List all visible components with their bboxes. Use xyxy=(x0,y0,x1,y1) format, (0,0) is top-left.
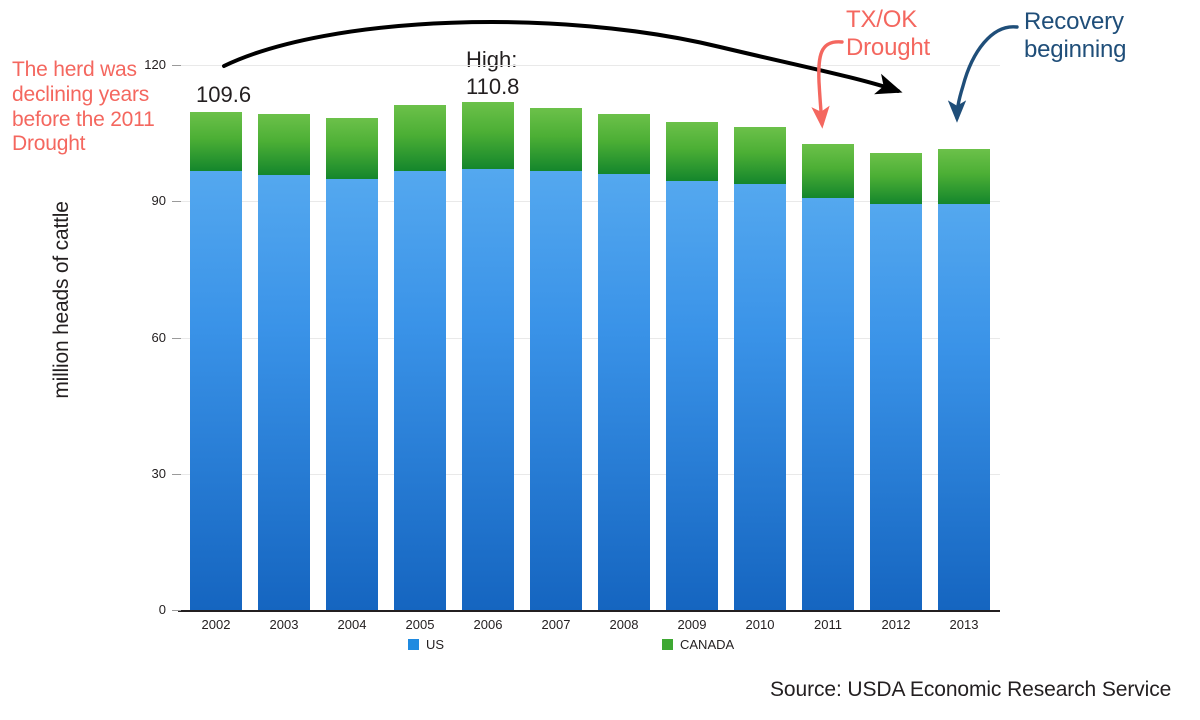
legend-swatch-us-icon xyxy=(408,639,419,650)
y-axis-tick xyxy=(172,610,181,611)
bar-segment-us[interactable] xyxy=(326,179,378,610)
x-axis-label: 2003 xyxy=(258,617,310,632)
bar-segment-us[interactable] xyxy=(530,171,582,610)
bar-segment-us[interactable] xyxy=(666,181,718,610)
bar-segment-us[interactable] xyxy=(190,171,242,610)
bar-segment-canada[interactable] xyxy=(666,122,718,181)
y-axis-label: 30 xyxy=(106,466,166,481)
bar-segment-canada[interactable] xyxy=(598,114,650,174)
x-axis-label: 2012 xyxy=(870,617,922,632)
x-axis-label: 2011 xyxy=(802,617,854,632)
legend-swatch-canada-icon xyxy=(662,639,673,650)
bar-segment-us[interactable] xyxy=(938,204,990,610)
legend-item-us: US xyxy=(408,637,444,652)
bar-segment-canada[interactable] xyxy=(870,153,922,205)
x-axis-label: 2009 xyxy=(666,617,718,632)
annotation-recovery-beginning: Recovery beginning xyxy=(1024,8,1189,65)
bar-segment-us[interactable] xyxy=(258,175,310,610)
bar-value-label-2002: 109.6 xyxy=(196,82,251,108)
bar-segment-us[interactable] xyxy=(734,184,786,610)
y-axis-tick xyxy=(172,65,181,66)
gridline xyxy=(180,65,1000,66)
source-note: Source: USDA Economic Research Service xyxy=(770,678,1171,702)
bar-segment-canada[interactable] xyxy=(258,114,310,175)
legend-label-canada: CANADA xyxy=(680,637,734,652)
bar-segment-canada[interactable] xyxy=(734,127,786,184)
y-axis-label: 0 xyxy=(106,602,166,617)
bar-segment-canada[interactable] xyxy=(394,105,446,170)
bar-segment-us[interactable] xyxy=(462,169,514,610)
y-axis-label: 60 xyxy=(106,330,166,345)
x-axis-label: 2002 xyxy=(190,617,242,632)
x-axis-label: 2007 xyxy=(530,617,582,632)
bar-segment-canada[interactable] xyxy=(530,108,582,171)
x-axis-label: 2006 xyxy=(462,617,514,632)
bar-segment-canada[interactable] xyxy=(938,149,990,204)
legend-item-canada: CANADA xyxy=(662,637,734,652)
bar-segment-us[interactable] xyxy=(870,204,922,610)
x-axis-label: 2004 xyxy=(326,617,378,632)
y-axis-label: 120 xyxy=(106,57,166,72)
x-axis-line xyxy=(178,610,1000,612)
slide-canvas: The herd was declining years before the … xyxy=(0,0,1200,720)
bar-segment-us[interactable] xyxy=(394,171,446,610)
chart-legend: US CANADA xyxy=(180,637,1000,657)
bar-segment-canada[interactable] xyxy=(190,112,242,171)
bar-segment-us[interactable] xyxy=(598,174,650,610)
y-axis-tick xyxy=(172,201,181,202)
x-axis-label: 2010 xyxy=(734,617,786,632)
y-axis-title: million heads of cattle xyxy=(50,140,74,460)
annotation-herd-declining: The herd was declining years before the … xyxy=(12,58,187,157)
legend-label-us: US xyxy=(426,637,444,652)
y-axis-tick xyxy=(172,338,181,339)
x-axis-label: 2008 xyxy=(598,617,650,632)
x-axis-label: 2005 xyxy=(394,617,446,632)
bar-segment-canada[interactable] xyxy=(326,118,378,179)
bar-segment-canada[interactable] xyxy=(802,144,854,198)
x-axis-label: 2013 xyxy=(938,617,990,632)
chart-plot-area xyxy=(180,65,1000,610)
bar-segment-canada[interactable] xyxy=(462,102,514,169)
bar-segment-us[interactable] xyxy=(802,198,854,610)
annotation-txok-drought: TX/OK Drought xyxy=(846,6,996,63)
y-axis-tick xyxy=(172,474,181,475)
y-axis-label: 90 xyxy=(106,193,166,208)
